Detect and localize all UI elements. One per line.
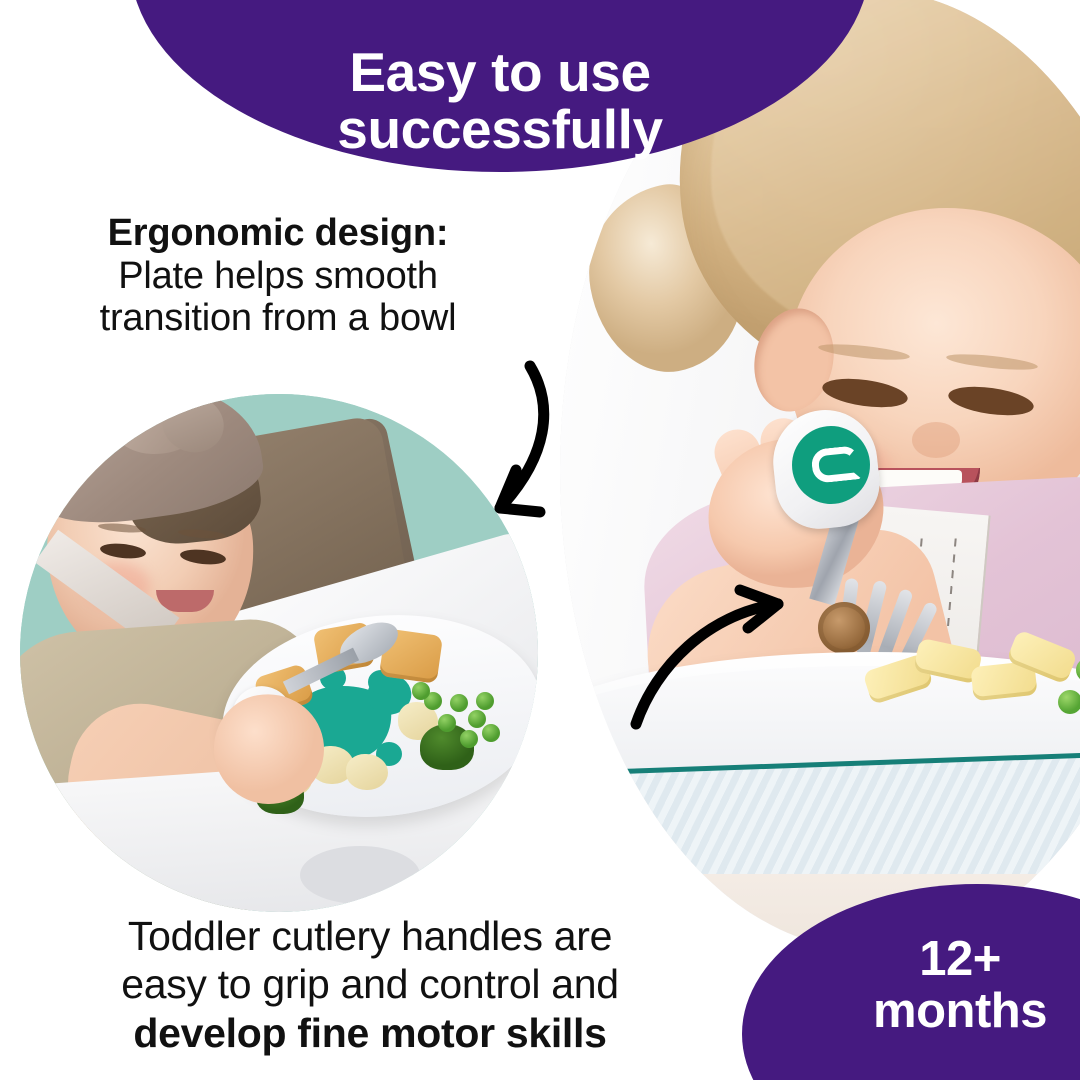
pea [476, 692, 494, 710]
pea [468, 710, 486, 728]
ergonomic-design-heading: Ergonomic design: [0, 212, 556, 255]
motor-skills-line-2: easy to grip and control and [121, 961, 619, 1007]
promo-graphic: Easy to use successfully Ergonomic desig… [0, 0, 1080, 1080]
ergonomic-design-copy: Ergonomic design: Plate helps smooth tra… [0, 212, 556, 340]
age-badge-text: 12+ months [840, 934, 1080, 1038]
potato-piece [346, 754, 388, 790]
pea [412, 682, 430, 700]
toddler-using-plate-photo [20, 394, 538, 912]
pasta-food [860, 636, 1070, 718]
pea [460, 730, 478, 748]
pea [482, 724, 500, 742]
motor-skills-emphasis: develop fine motor skills [133, 1010, 606, 1056]
ergonomic-design-line-2: transition from a bowl [100, 297, 457, 339]
pea [438, 714, 456, 732]
child-nose [912, 422, 960, 458]
age-badge-line-1: 12+ [919, 932, 1001, 986]
age-badge-line-2: months [873, 984, 1047, 1038]
headline-line-2: successfully [337, 98, 662, 160]
motor-skills-line-1: Toddler cutlery handles are [128, 913, 612, 959]
tray-cup-well [300, 846, 420, 904]
headline-line-1: Easy to use [349, 41, 650, 103]
pea [450, 694, 468, 712]
headline-text: Easy to use successfully [337, 44, 662, 172]
ergonomic-design-line-1: Plate helps smooth [118, 255, 438, 297]
motor-skills-copy: Toddler cutlery handles are easy to grip… [20, 912, 720, 1057]
pea [1058, 690, 1080, 714]
